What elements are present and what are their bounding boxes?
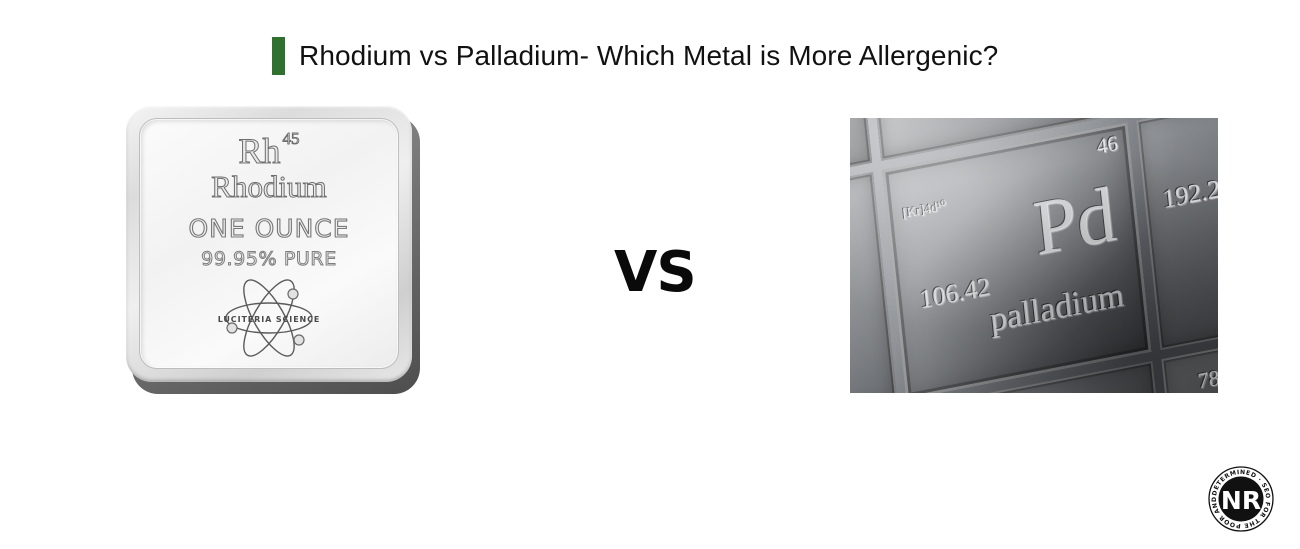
palladium-electron-config: [Kr]4d¹⁰ — [902, 198, 947, 219]
nr-circular-logo: DETERMINED · SEO FOR THE POOR AND NR — [1208, 466, 1274, 532]
palladium-atomic-number: 46 — [1096, 133, 1119, 158]
page-title-row: Rhodium vs Palladium- Which Metal is Mor… — [272, 36, 998, 76]
svg-text:NR: NR — [1221, 486, 1261, 515]
palladium-plaque-scene: [Xe]4f¹⁴5d⁷6s² 45 h ium 46 [Kr]4d¹⁰ Pd 1… — [850, 118, 1218, 393]
rhodium-purity: 99.95% PURE — [201, 250, 337, 269]
rhodium-weight: ONE OUNCE — [188, 216, 349, 241]
neighbor-right-atomic-mass: 192.2 — [1161, 176, 1218, 213]
palladium-element-name: palladium — [988, 278, 1125, 338]
rhodium-bullion-bar-image: Rh 45 Rhodium ONE OUNCE 99.95% PURE — [126, 106, 422, 396]
periodic-cell-iridium: 192.2 — [1136, 118, 1218, 350]
rhodium-element-name: Rhodium — [211, 171, 326, 204]
versus-label: VS — [614, 245, 696, 301]
palladium-symbol: Pd — [1030, 174, 1119, 268]
rhodium-bar-body: Rh 45 Rhodium ONE OUNCE 99.95% PURE — [126, 106, 412, 382]
title-accent-bar — [272, 37, 285, 75]
luciteria-atom-logo: LUCITERIA SCIENCE — [209, 279, 329, 357]
page-title: Rhodium vs Palladium- Which Metal is Mor… — [299, 40, 998, 72]
rhodium-bar-face: Rh 45 Rhodium ONE OUNCE 99.95% PURE — [139, 118, 399, 369]
luciteria-mint-name: LUCITERIA SCIENCE — [209, 315, 329, 324]
rhodium-atomic-number: 45 — [283, 130, 300, 147]
rhodium-symbol-line: Rh 45 — [238, 133, 299, 169]
rhodium-symbol: Rh — [238, 133, 280, 169]
neighbor-below-atomic-number: 78 — [1197, 366, 1218, 392]
palladium-periodic-table-image: [Xe]4f¹⁴5d⁷6s² 45 h ium 46 [Kr]4d¹⁰ Pd 1… — [850, 118, 1218, 393]
palladium-atomic-mass: 106.42 — [918, 274, 991, 314]
periodic-cell-palladium: 46 [Kr]4d¹⁰ Pd 106.42 palladium — [882, 122, 1152, 393]
